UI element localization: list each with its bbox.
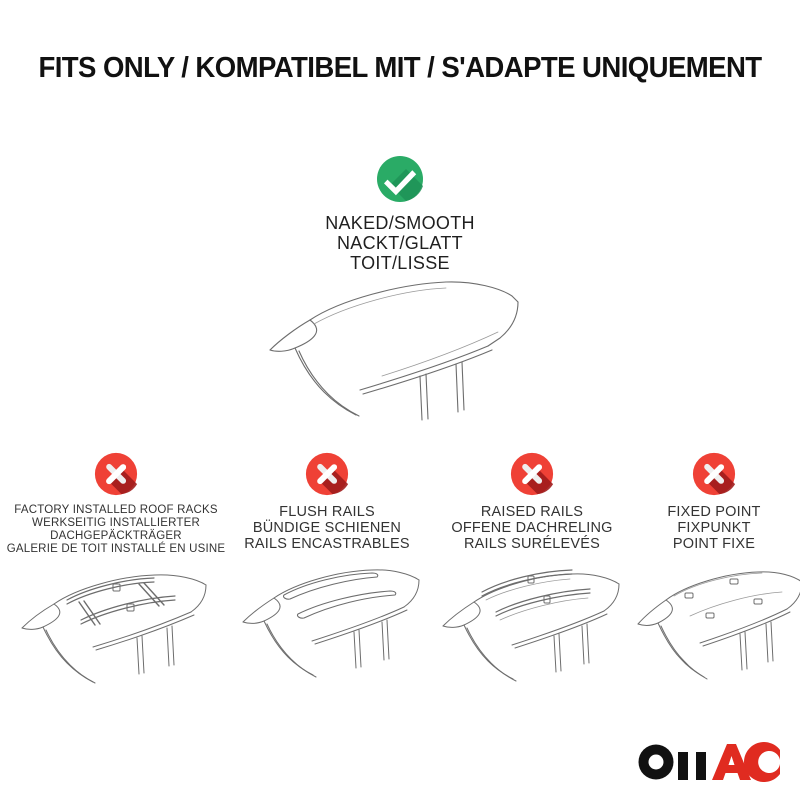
compatible-label-de: NACKT/GLATT — [0, 233, 800, 253]
item-label-fr: RAILS SURÉLEVÉS — [432, 536, 632, 552]
incompatible-item-factory-installed-roof-racks: FACTORY INSTALLED ROOF RACKS WERKSEITIG … — [0, 452, 232, 707]
item-label-fr: RAILS ENCASTRABLES — [232, 536, 422, 552]
page-title: FITS ONLY / KOMPATIBEL MIT / S'ADAPTE UN… — [20, 52, 780, 85]
omac-logo — [632, 736, 782, 784]
item-label-en: RAISED RAILS — [432, 504, 632, 520]
omac-wordmark-icon — [632, 736, 782, 784]
item-label-en: FIXED POINT — [628, 504, 800, 520]
item-label-en: FLUSH RAILS — [232, 504, 422, 520]
car-roof-flush-rails-illustration — [232, 558, 422, 703]
cross-circle-icon — [510, 452, 554, 496]
item-label-de: FIXPUNKT — [628, 520, 800, 536]
compatible-label-fr: TOIT/LISSE — [0, 253, 800, 273]
incompatible-item-flush-rails: FLUSH RAILS BÜNDIGE SCHIENEN RAILS ENCAS… — [232, 452, 422, 703]
item-label-de: OFFENE DACHRELING — [432, 520, 632, 536]
item-labels: FACTORY INSTALLED ROOF RACKS WERKSEITIG … — [0, 504, 232, 556]
compatible-labels: NAKED/SMOOTH NACKT/GLATT TOIT/LISSE — [0, 213, 800, 273]
item-label-de: BÜNDIGE SCHIENEN — [232, 520, 422, 536]
item-labels: FIXED POINT FIXPUNKT POINT FIXE — [628, 504, 800, 552]
item-label-fr: GALERIE DE TOIT INSTALLÉ EN USINE — [0, 543, 232, 556]
item-labels: RAISED RAILS OFFENE DACHRELING RAILS SUR… — [432, 504, 632, 552]
incompatible-section: FACTORY INSTALLED ROOF RACKS WERKSEITIG … — [0, 452, 800, 712]
compatible-label-en: NAKED/SMOOTH — [0, 213, 800, 233]
incompatible-item-raised-rails: RAISED RAILS OFFENE DACHRELING RAILS SUR… — [432, 452, 632, 703]
item-label-de-1: WERKSEITIG INSTALLIERTER — [0, 517, 232, 530]
cross-circle-icon — [305, 452, 349, 496]
cross-circle-icon — [692, 452, 736, 496]
incompatible-item-fixed-point: FIXED POINT FIXPUNKT POINT FIXE — [628, 452, 800, 703]
cross-circle-icon — [94, 452, 138, 496]
item-labels: FLUSH RAILS BÜNDIGE SCHIENEN RAILS ENCAS… — [232, 504, 422, 552]
car-roof-factory-rack-illustration — [0, 562, 232, 707]
item-label-de-2: DACHGEPÄCKTRÄGER — [0, 530, 232, 543]
item-label-fr: POINT FIXE — [628, 536, 800, 552]
car-roof-raised-rails-illustration — [432, 558, 632, 703]
car-roof-naked-smooth-illustration — [0, 272, 800, 427]
check-circle-icon — [376, 155, 424, 203]
car-roof-fixed-point-illustration — [628, 558, 800, 703]
item-label-en: FACTORY INSTALLED ROOF RACKS — [0, 504, 232, 517]
compatible-section: NAKED/SMOOTH NACKT/GLATT TOIT/LISSE — [0, 155, 800, 273]
